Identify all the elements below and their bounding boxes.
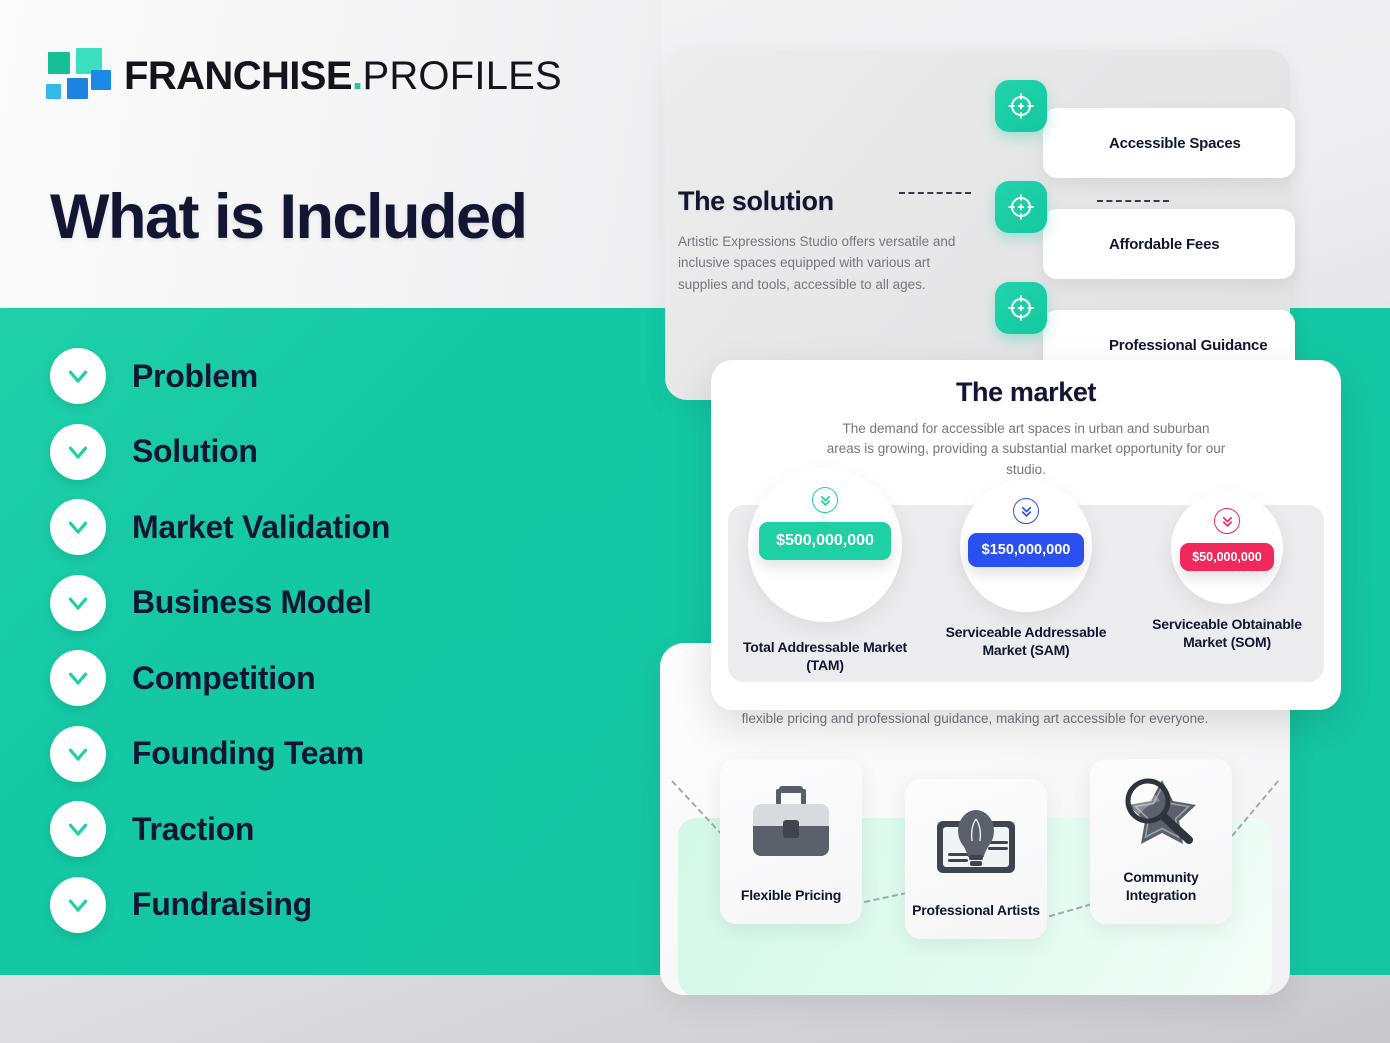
- double-chevron-down-icon: [1214, 508, 1240, 534]
- solution-card: The solution Artistic Expressions Studio…: [665, 50, 1290, 400]
- toc-item-label: Competition: [132, 660, 315, 697]
- header-strip: [0, 0, 662, 308]
- market-bubble: $150,000,000: [960, 480, 1092, 612]
- logo-mark-icon: [46, 48, 108, 104]
- feature-row-accessible-spaces[interactable]: Accessible Spaces: [995, 80, 1295, 181]
- logo-square-blue-dark: [91, 70, 111, 90]
- chevron-down-icon: [50, 575, 106, 631]
- service-label: Professional Artists: [906, 902, 1046, 940]
- toc-item-label: Solution: [132, 433, 258, 470]
- market-bubble: $500,000,000: [748, 468, 902, 622]
- toc-item-founding-team[interactable]: Founding Team: [50, 726, 610, 782]
- lightbulb-certificate-icon: [905, 779, 1047, 902]
- service-card-community-integration[interactable]: Community Integration: [1090, 759, 1232, 924]
- logo-wordmark: FRANCHISE.PROFILES: [124, 56, 562, 96]
- toc-item-traction[interactable]: Traction: [50, 801, 610, 857]
- toc-item-label: Market Validation: [132, 509, 390, 546]
- feature-row-affordable-fees[interactable]: Affordable Fees: [995, 181, 1295, 282]
- toc-item-label: Traction: [132, 811, 254, 848]
- target-icon: [995, 80, 1047, 132]
- target-icon: [995, 181, 1047, 233]
- solution-header: The solution Artistic Expressions Studio…: [678, 186, 968, 295]
- chevron-down-icon: [50, 801, 106, 857]
- toc-item-label: Business Model: [132, 584, 371, 621]
- double-chevron-down-icon: [1013, 498, 1039, 524]
- solution-title: The solution: [678, 186, 968, 217]
- market-title: The market: [711, 377, 1341, 408]
- toc-item-label: Problem: [132, 358, 258, 395]
- chevron-down-icon: [50, 424, 106, 480]
- service-card-flexible-pricing[interactable]: Flexible Pricing: [720, 759, 862, 924]
- market-segment-label: Total Addressable Market (TAM): [736, 639, 914, 675]
- feature-label: Professional Guidance: [1109, 337, 1267, 354]
- double-chevron-down-icon: [812, 487, 838, 513]
- market-value-tag: $150,000,000: [968, 533, 1085, 567]
- brand-logo[interactable]: FRANCHISE.PROFILES: [46, 48, 562, 104]
- logo-word-franchise: FRANCHISE: [124, 54, 352, 98]
- chevron-down-icon: [50, 650, 106, 706]
- feature-chip: Affordable Fees: [1043, 209, 1295, 279]
- market-card: The market The demand for accessible art…: [711, 360, 1341, 710]
- market-segment-sam[interactable]: $150,000,000 Serviceable Addressable Mar…: [937, 468, 1115, 660]
- toc-item-market-validation[interactable]: Market Validation: [50, 499, 610, 555]
- toc-item-label: Founding Team: [132, 735, 364, 772]
- page-title: What is Included: [50, 186, 527, 249]
- market-segment-label: Serviceable Addressable Market (SAM): [937, 624, 1115, 660]
- market-value-tag: $500,000,000: [759, 522, 891, 560]
- star-magnifier-icon: [1090, 759, 1232, 869]
- briefcase-icon: [720, 759, 862, 887]
- chevron-down-icon: [50, 348, 106, 404]
- logo-square-blue-light: [46, 84, 61, 99]
- logo-square-blue-mid: [67, 78, 88, 99]
- service-label: Flexible Pricing: [735, 887, 847, 925]
- table-of-contents: Problem Solution Market Validation Busin…: [50, 348, 610, 952]
- chevron-down-icon: [50, 499, 106, 555]
- logo-dot: .: [352, 54, 363, 98]
- market-segment-label: Serviceable Obtainable Market (SOM): [1138, 616, 1316, 652]
- market-connector-sam-som: [1097, 200, 1169, 202]
- market-value-tag: $50,000,000: [1180, 543, 1274, 571]
- market-segment-tam[interactable]: $500,000,000 Total Addressable Market (T…: [736, 468, 914, 675]
- target-icon: [995, 282, 1047, 334]
- toc-item-fundraising[interactable]: Fundraising: [50, 877, 610, 933]
- market-connector-tam-sam: [899, 192, 971, 194]
- feature-chip: Accessible Spaces: [1043, 108, 1295, 178]
- logo-word-profiles: PROFILES: [362, 54, 561, 98]
- feature-label: Affordable Fees: [1109, 236, 1219, 253]
- feature-label: Accessible Spaces: [1109, 135, 1241, 152]
- toc-item-label: Fundraising: [132, 886, 312, 923]
- market-segments: $500,000,000 Total Addressable Market (T…: [728, 468, 1324, 698]
- service-card-professional-artists[interactable]: Professional Artists: [905, 779, 1047, 939]
- logo-square-green-dark: [48, 52, 70, 74]
- market-segment-som[interactable]: $50,000,000 Serviceable Obtainable Marke…: [1138, 468, 1316, 652]
- service-label: Community Integration: [1090, 869, 1232, 924]
- chevron-down-icon: [50, 877, 106, 933]
- solution-body-text: Artistic Expressions Studio offers versa…: [678, 231, 968, 295]
- market-bubble: $50,000,000: [1171, 492, 1283, 604]
- toc-item-solution[interactable]: Solution: [50, 424, 610, 480]
- toc-item-competition[interactable]: Competition: [50, 650, 610, 706]
- solution-feature-list: Accessible Spaces Affordable Fees Profes…: [995, 80, 1295, 383]
- chevron-down-icon: [50, 726, 106, 782]
- toc-item-problem[interactable]: Problem: [50, 348, 610, 404]
- services-caption-text: flexible pricing and professional guidan…: [660, 709, 1290, 730]
- toc-item-business-model[interactable]: Business Model: [50, 575, 610, 631]
